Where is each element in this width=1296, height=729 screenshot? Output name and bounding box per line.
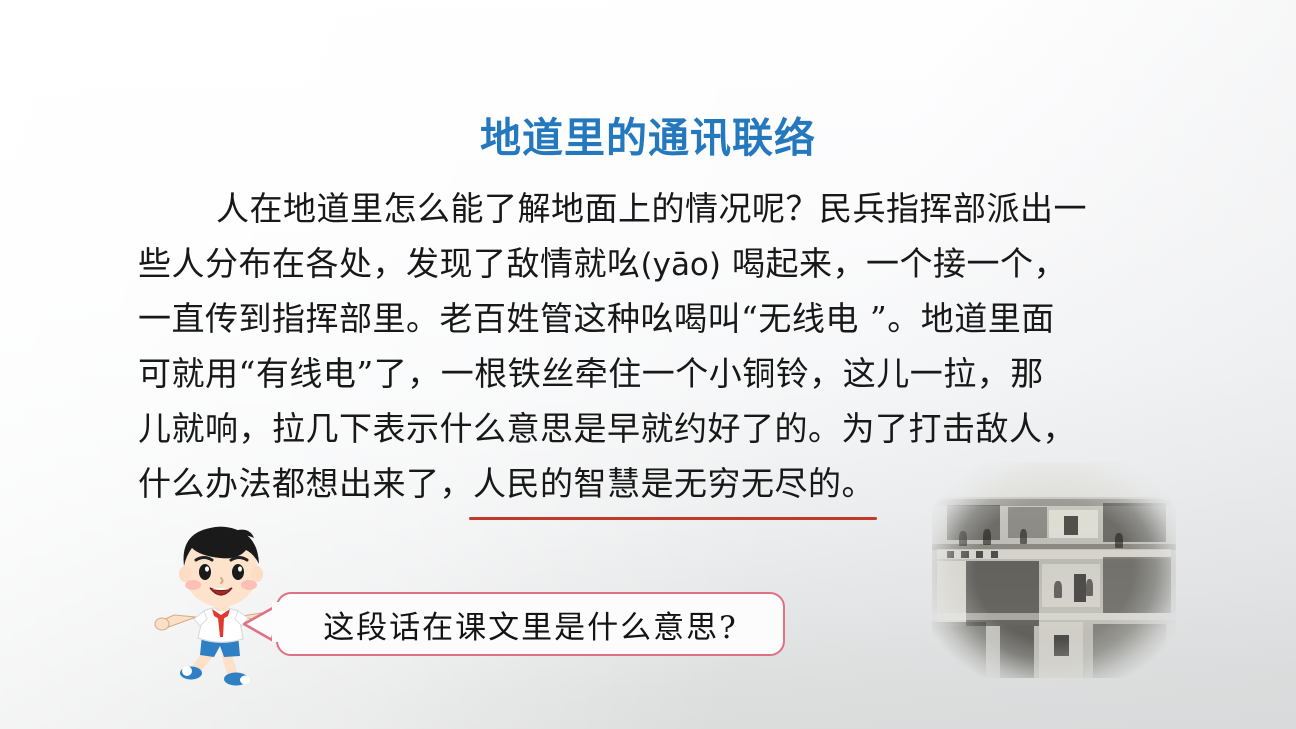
photo-figure [1115,533,1123,548]
photo-foreground-shadow [1093,624,1166,678]
photo-figure [959,531,967,546]
photo-foreground-shadow [1000,626,1034,678]
boy-right-cheek [241,580,257,590]
page-title: 地道里的通讯联络 [0,104,1296,164]
boy-right-shoe-toe [240,676,250,685]
boy-right-ear [251,566,263,582]
photo-building [1008,507,1047,537]
paragraph-line-text: 人在地道里怎么能了解地面上的情况呢？民兵指挥部派出一 [216,189,1087,228]
photo-figure [1054,581,1062,598]
photo-building [1103,557,1171,613]
pinyin-annotation: (yāo) [641,247,722,283]
lesson-paragraph: 人在地道里怎么能了解地面上的情况呢？民兵指挥部派出一 些人分布在各处，发现了敌情… [138,181,1162,511]
underlined-clause: 人民的智慧是无穷无尽的。 [473,456,875,511]
photo-parapet-tooth [976,551,983,558]
paragraph-line: 可就用“有线电”了，一根铁丝牵住一个小铜铃，这儿一拉，那 [138,346,1162,401]
paragraph-line: 人在地道里怎么能了解地面上的情况呢？民兵指挥部派出一 [138,181,1162,236]
paragraph-line-text: 儿就响，拉几下表示什么意思是早就约好了的。为了打击敌人， [138,409,1076,448]
speech-bubble: 这段话在课文里是什么意思? [276,592,785,656]
paragraph-line-text: 什么办法都想出来了， [138,464,473,503]
photo-doorway [1074,574,1086,602]
photo-ground-band [932,613,1176,619]
boy-left-eye [199,564,211,580]
photo-parapet-tooth [961,551,968,558]
boy-left-shoe-toe [182,666,192,676]
speech-bubble-text: 这段话在课文里是什么意思? [278,594,783,654]
slide-canvas: 地道里的通讯联络 人在地道里怎么能了解地面上的情况呢？民兵指挥部派出一 些人分布… [0,0,1296,729]
paragraph-line: 什么办法都想出来了，人民的智慧是无穷无尽的。 [138,456,1162,511]
boy-left-eye-glint [205,566,209,571]
photo-foreground-opening [1054,635,1069,657]
speech-bubble-tail [242,600,282,644]
photo-parapet-tooth [947,551,954,558]
boy-left-hand [155,618,169,630]
boy-left-ear [179,566,191,582]
paragraph-line: 些人分布在各处，发现了敌情就吆(yāo) 喝起来，一个接一个， [138,236,1162,291]
photo-window [1064,516,1079,535]
boy-right-eye [232,564,244,580]
paragraph-line: 一直传到指挥部里。老百姓管这种吆喝叫“无线电 ”。地道里面 [138,291,1162,346]
photo-foreground-shadow [932,622,986,678]
boy-left-cheek [185,580,201,590]
photo-figure [983,529,991,545]
paragraph-line-text: 喝起来，一个接一个， [721,244,1067,283]
paragraph-line: 儿就响，拉几下表示什么意思是早就约好了的。为了打击敌人， [138,401,1162,456]
paragraph-line-text: 些人分布在各处，发现了敌情就吆 [138,244,641,283]
boy-right-eye-glint [238,566,242,571]
paragraph-line-text: 一直传到指挥部里。老百姓管这种吆喝叫“无线电 ”。地道里面 [138,299,1055,338]
paragraph-line-text: 可就用“有线电”了，一根铁丝牵住一个小铜铃，这儿一拉，那 [138,354,1044,393]
photo-parapet-tooth [991,551,998,558]
photo-figure [1020,529,1027,544]
photo-figure [1086,579,1093,596]
